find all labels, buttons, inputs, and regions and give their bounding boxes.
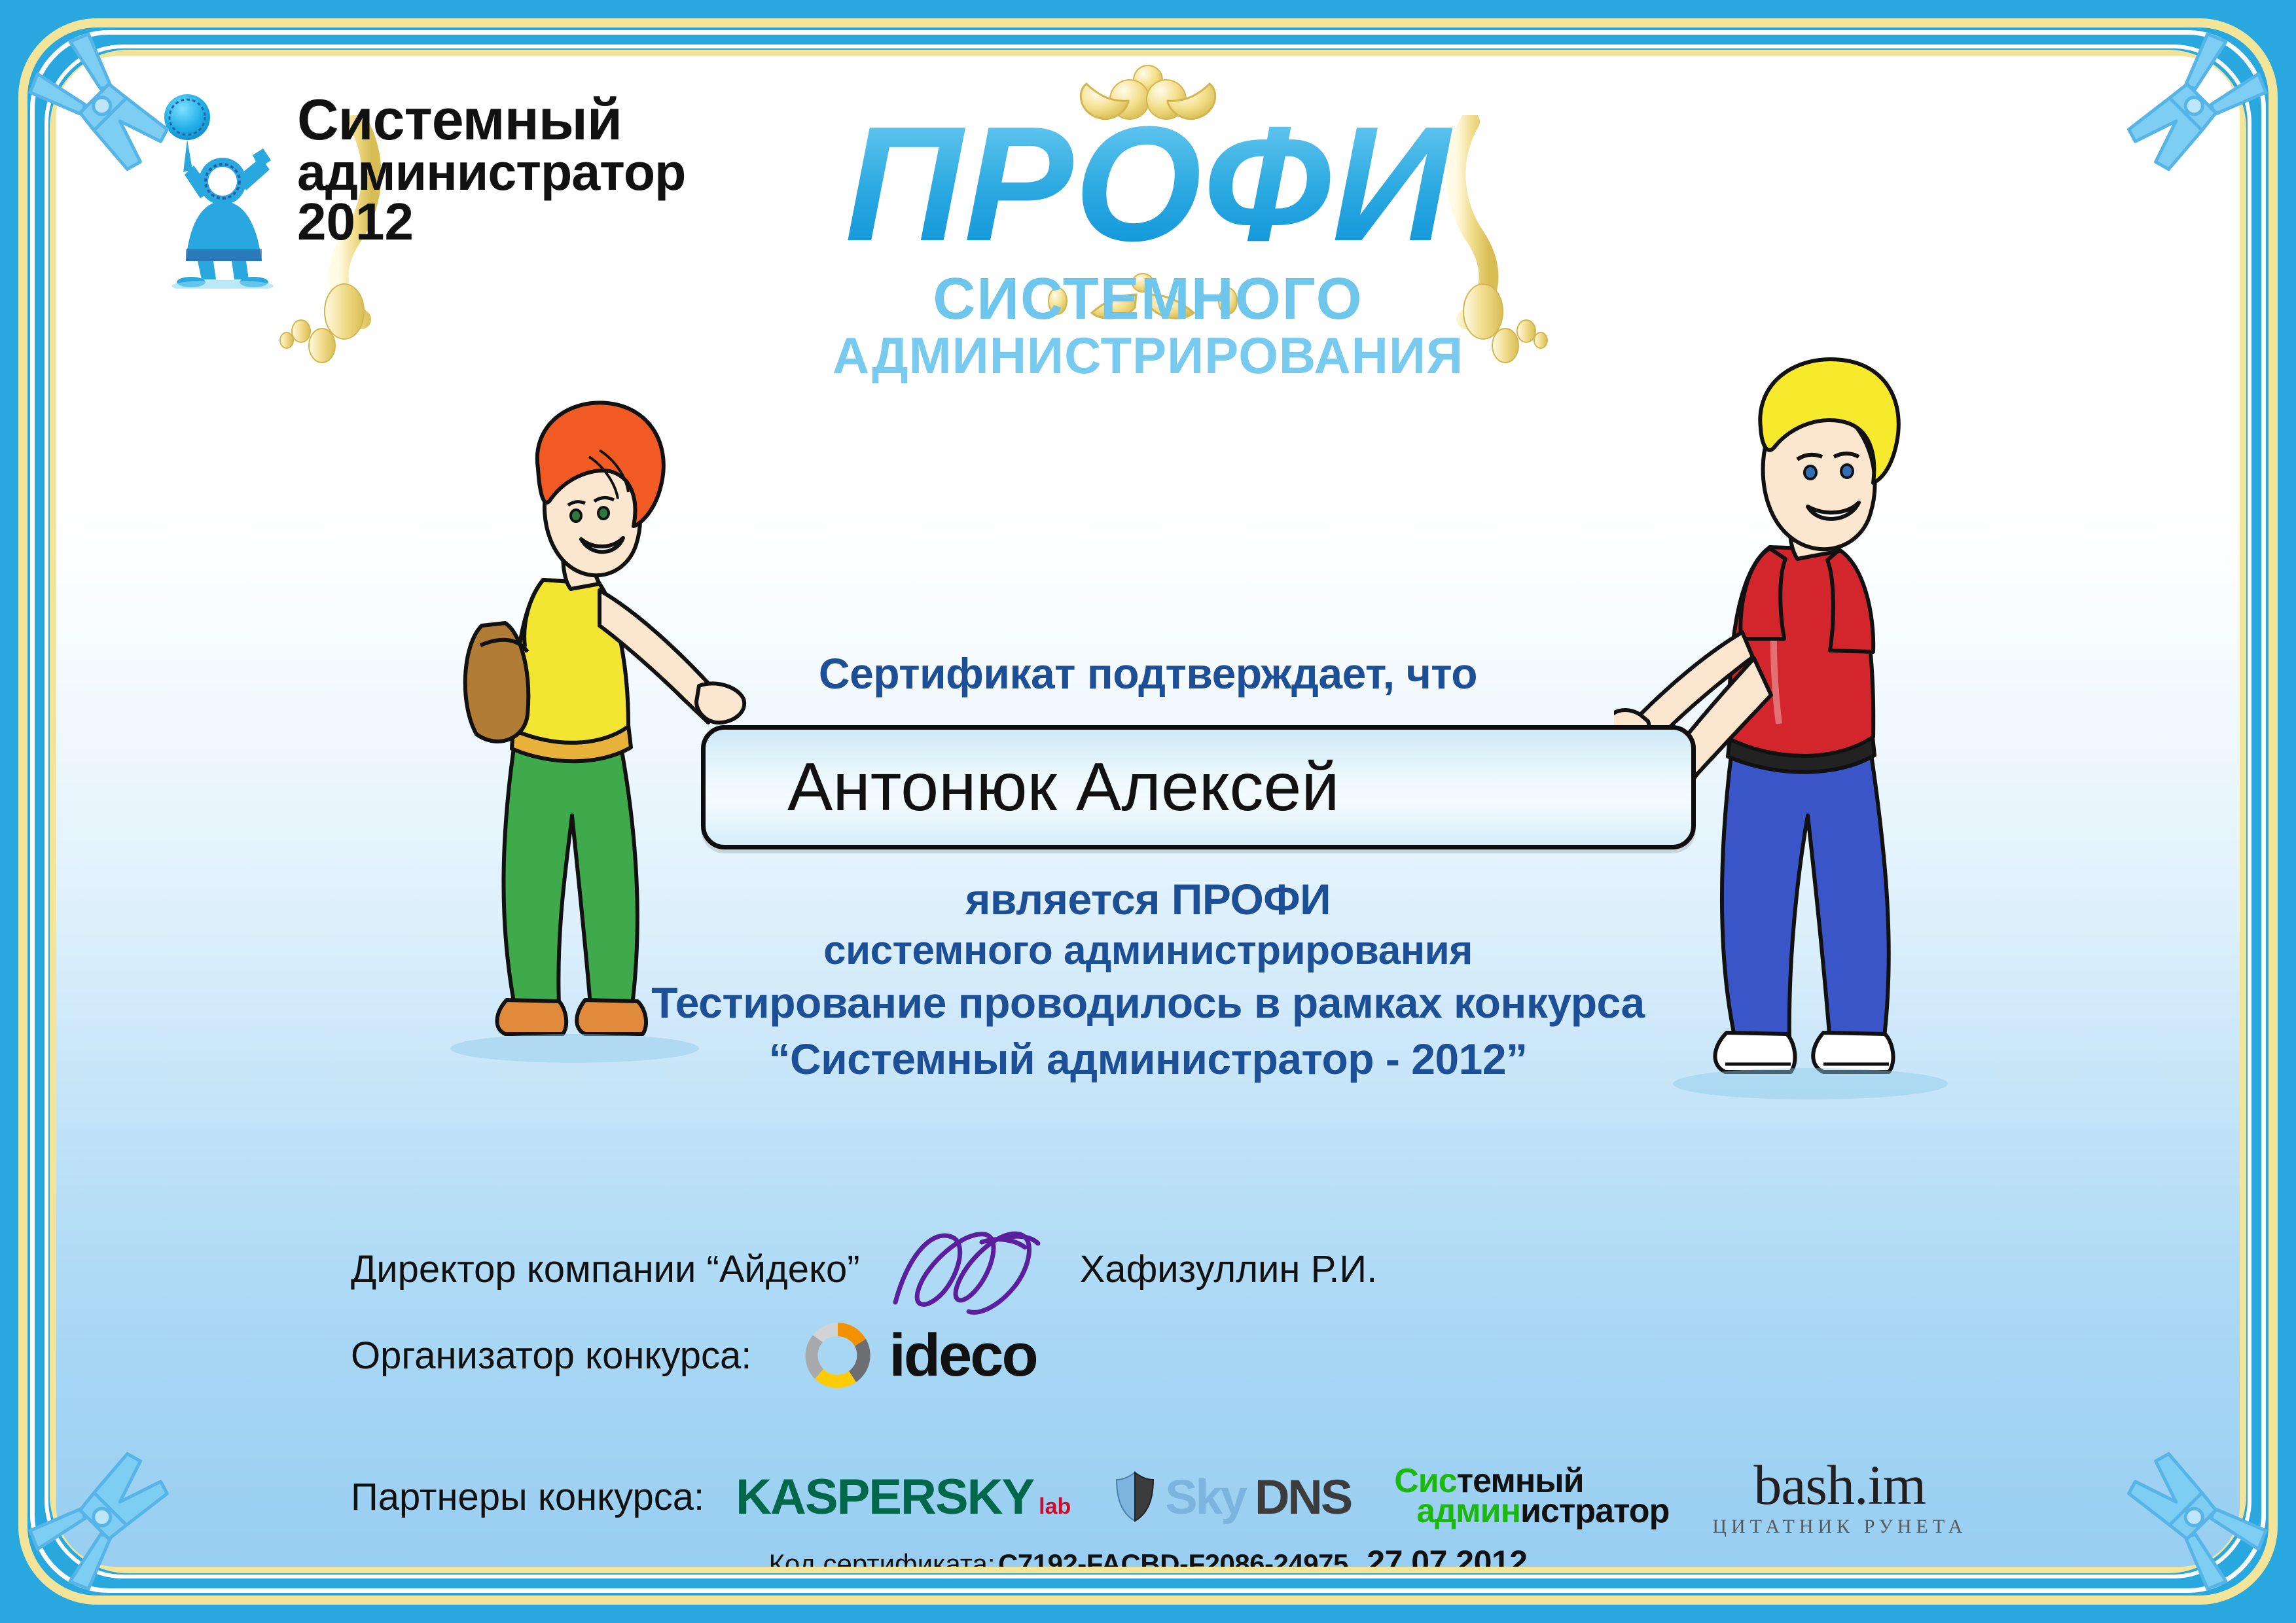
partners-label: Партнеры конкурса: [351, 1475, 704, 1519]
sysadmin-logo-row-2: администратор [1394, 1497, 1669, 1527]
certificate-page: Системный администратор 2012 [0, 0, 2296, 1623]
handwritten-signature-icon [884, 1220, 1054, 1318]
ideco-logo: ideco [798, 1316, 1036, 1395]
code-label: Код сертификата: [768, 1548, 995, 1567]
sysadmin-part-c: админ [1416, 1492, 1520, 1530]
body-line-2: системного администрирования [56, 926, 2240, 976]
ideco-wordmark: ideco [889, 1321, 1036, 1390]
bashim-wordmark: bash.im [1712, 1457, 1967, 1513]
organizer-row: Организатор конкурса: ideco [351, 1316, 1037, 1395]
certificate-field: Системный администратор 2012 [56, 56, 2240, 1567]
skydns-shield-icon [1114, 1471, 1156, 1523]
body-line-3: Тестирование проводилось в рамках конкур… [56, 975, 2240, 1031]
title-subline-2: АДМИНИСТРИРОВАНИЯ [56, 330, 2240, 382]
certificate-code-line: Код сертификата: C7192-FACBD-F2086-24975… [56, 1543, 2240, 1567]
sysadmin-part-d: истратор [1520, 1492, 1669, 1530]
director-role-label: Директор компании “Айдеко” [351, 1247, 860, 1291]
code-value: C7192-FACBD-F2086-24975 [998, 1548, 1348, 1567]
recipient-name-banner: Антонюк Алексей [701, 725, 1696, 849]
skydns-word-dns: DNS [1255, 1469, 1351, 1525]
partners-row: Партнеры конкурса: KASPERSKY lab Sky DNS [351, 1457, 1967, 1537]
bashim-logo-icon: bash.im ЦИТАТНИК РУНЕТА [1712, 1457, 1967, 1537]
title-subline-1: СИСТЕМНОГО [56, 270, 2240, 330]
partner-logo-list: KASPERSKY lab Sky DNS Системный [736, 1457, 1967, 1537]
kaspersky-wordmark: KASPERSKY [736, 1469, 1033, 1525]
kaspersky-lab-suffix: lab [1039, 1494, 1071, 1520]
ideco-swirl-icon [798, 1316, 877, 1395]
issue-date: 27.07.2012 [1367, 1544, 1527, 1567]
bashim-tagline: ЦИТАТНИК РУНЕТА [1712, 1517, 1967, 1537]
title-block: ПРОФИ СИСТЕМНОГО АДМИНИСТРИРОВАНИЯ [56, 102, 2240, 382]
skydns-word-sky: Sky [1165, 1469, 1246, 1525]
signature-row: Директор компании “Айдеко” Хафизуллин Р.… [351, 1220, 1377, 1318]
page-title: ПРОФИ [56, 102, 2240, 266]
recipient-name: Антонюк Алексей [787, 749, 1339, 827]
sysadmin-logo-icon: Системный администратор [1394, 1467, 1669, 1527]
kaspersky-logo-icon: KASPERSKY lab [736, 1469, 1071, 1525]
skydns-logo: Sky DNS [1114, 1469, 1351, 1525]
signer-name: Хафизуллин Р.И. [1080, 1247, 1378, 1291]
body-line-1: является ПРОФИ [56, 873, 2240, 926]
body-line-4: “Системный администратор - 2012” [56, 1031, 2240, 1088]
confirm-text: Сертификат подтверждает, что [56, 649, 2240, 698]
organizer-label: Организатор конкурса: [351, 1334, 751, 1378]
certificate-body: является ПРОФИ системного администрирова… [56, 873, 2240, 1088]
